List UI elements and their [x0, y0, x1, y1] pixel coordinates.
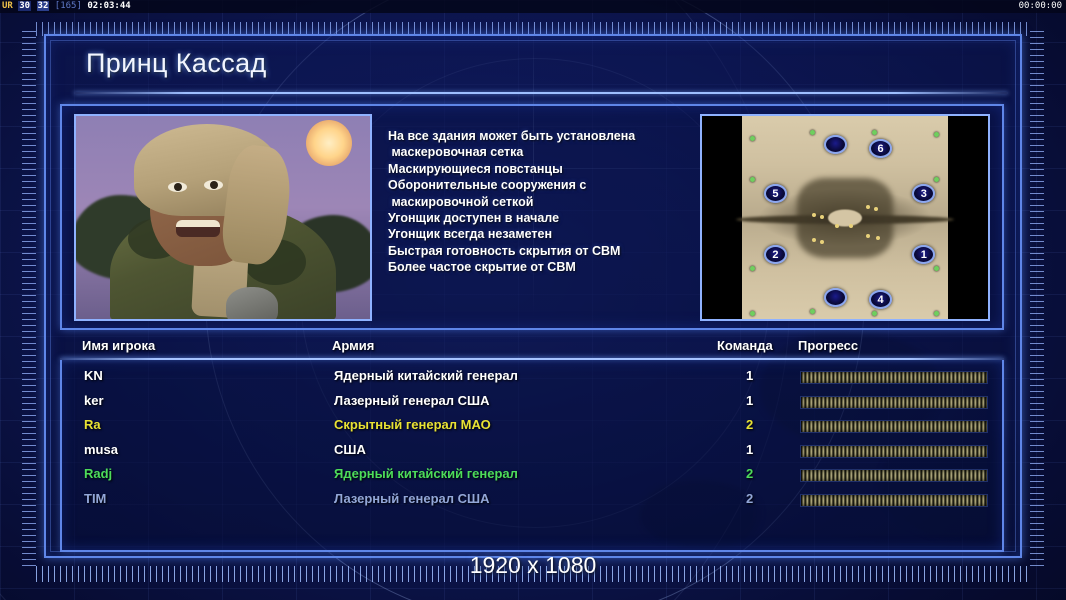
player-name: Ra	[84, 417, 101, 432]
debug-label: UR	[2, 1, 13, 11]
map-start-position: 4	[869, 290, 892, 309]
player-team: 1	[746, 442, 753, 457]
ruler-strip-left	[22, 30, 36, 566]
description-line: Угонщик всегда незаметен	[388, 226, 688, 242]
player-progress-bar	[800, 420, 988, 433]
player-army: Лазерный генерал США	[334, 491, 489, 506]
map-supply-dot	[934, 311, 939, 316]
description-line: Маскирующиеся повстанцы	[388, 161, 688, 177]
description-line: Угонщик доступен в начале	[388, 210, 688, 226]
description-line: Оборонительные сооружения с	[388, 177, 688, 193]
map-oil-derrick	[876, 236, 880, 240]
portrait-teapot	[226, 287, 278, 321]
title-panel: Принц Кассад	[58, 44, 1008, 92]
general-portrait	[74, 114, 372, 321]
column-header-team: Команда	[717, 338, 773, 353]
map-center-island	[828, 209, 862, 226]
map-supply-dot	[750, 311, 755, 316]
map-start-position: 6	[869, 139, 892, 158]
player-team: 1	[746, 368, 753, 383]
player-name: TIM	[84, 491, 106, 506]
map-oil-derrick	[866, 205, 870, 209]
map-oil-derrick	[866, 234, 870, 238]
map-start-position	[824, 135, 847, 154]
player-name: Radj	[84, 466, 112, 481]
map-supply-dot	[810, 309, 815, 314]
player-progress-bar	[800, 396, 988, 409]
column-header-progress: Прогресс	[798, 338, 858, 353]
portrait-eye-left	[168, 182, 187, 192]
player-army: Скрытный генерал МАО	[334, 417, 491, 432]
description-line: маскировочной сеткой	[388, 194, 688, 210]
player-team: 2	[746, 466, 753, 481]
map-oil-derrick	[812, 238, 816, 242]
resolution-label: 1920 x 1080	[0, 552, 1066, 579]
map-preview: 653214	[700, 114, 990, 321]
table-row: RadjЯдерный китайский генерал2	[62, 466, 1006, 490]
player-army: Ядерный китайский генерал	[334, 368, 518, 383]
general-description-list: На все здания может быть установлена мас…	[388, 128, 688, 276]
table-row: TIMЛазерный генерал США2	[62, 491, 1006, 515]
player-progress-bar	[800, 469, 988, 482]
debug-num-2: 32	[37, 1, 50, 11]
table-row: KNЯдерный китайский генерал1	[62, 368, 1006, 392]
player-progress-bar	[800, 371, 988, 384]
map-supply-dot	[934, 177, 939, 182]
description-line: Быстрая готовность скрытия от СВМ	[388, 243, 688, 259]
column-header-army: Армия	[332, 338, 374, 353]
map-supply-dot	[810, 130, 815, 135]
player-progress-bar	[800, 494, 988, 507]
map-oil-derrick	[849, 224, 853, 228]
portrait-mouth	[176, 220, 220, 237]
table-row: musaСША1	[62, 442, 1006, 466]
map-supply-dot	[750, 266, 755, 271]
player-army: Лазерный генерал США	[334, 393, 489, 408]
ruler-strip-right	[1030, 30, 1044, 566]
debug-num-1: 30	[18, 1, 31, 11]
player-name: ker	[84, 393, 104, 408]
map-start-position: 2	[764, 245, 787, 264]
player-team: 1	[746, 393, 753, 408]
page-title: Принц Кассад	[86, 48, 267, 79]
loading-info-panel: На все здания может быть установлена мас…	[60, 104, 1004, 330]
match-timer: 00:00:00	[1019, 0, 1062, 13]
map-start-position: 1	[912, 245, 935, 264]
map-start-position	[824, 288, 847, 307]
map-supply-dot	[750, 177, 755, 182]
debug-clock: 02:03:44	[87, 1, 130, 11]
portrait-sun-icon	[306, 120, 352, 166]
debug-readout: UR 30 32 [165] 02:03:44	[2, 0, 131, 13]
player-name: KN	[84, 368, 103, 383]
player-army: Ядерный китайский генерал	[334, 466, 518, 481]
table-row: kerЛазерный генерал США1	[62, 393, 1006, 417]
top-status-bar: UR 30 32 [165] 02:03:44 00:00:00	[0, 0, 1066, 13]
map-supply-dot	[934, 132, 939, 137]
map-supply-dot	[934, 266, 939, 271]
description-line: маскеровочная сетка	[388, 144, 688, 160]
map-oil-derrick	[835, 224, 839, 228]
player-team: 2	[746, 491, 753, 506]
title-divider	[74, 92, 1008, 94]
description-line: Более частое скрытие от СВМ	[388, 259, 688, 275]
debug-bracket: [165]	[55, 1, 82, 11]
map-start-position: 3	[912, 184, 935, 203]
table-row: RaСкрытный генерал МАО2	[62, 417, 1006, 441]
column-header-name: Имя игрока	[82, 338, 155, 353]
player-army: США	[334, 442, 366, 457]
map-supply-dot	[750, 136, 755, 141]
map-terrain-image: 653214	[742, 116, 948, 319]
player-team: 2	[746, 417, 753, 432]
portrait-eye-right	[204, 180, 223, 190]
map-supply-dot	[872, 311, 877, 316]
map-supply-dot	[872, 130, 877, 135]
player-table: KNЯдерный китайский генерал1kerЛазерный …	[60, 360, 1004, 552]
description-line: На все здания может быть установлена	[388, 128, 688, 144]
map-start-position: 5	[764, 184, 787, 203]
player-table-header: Имя игрока Армия Команда Прогресс	[60, 338, 1004, 358]
player-progress-bar	[800, 445, 988, 458]
player-name: musa	[84, 442, 118, 457]
